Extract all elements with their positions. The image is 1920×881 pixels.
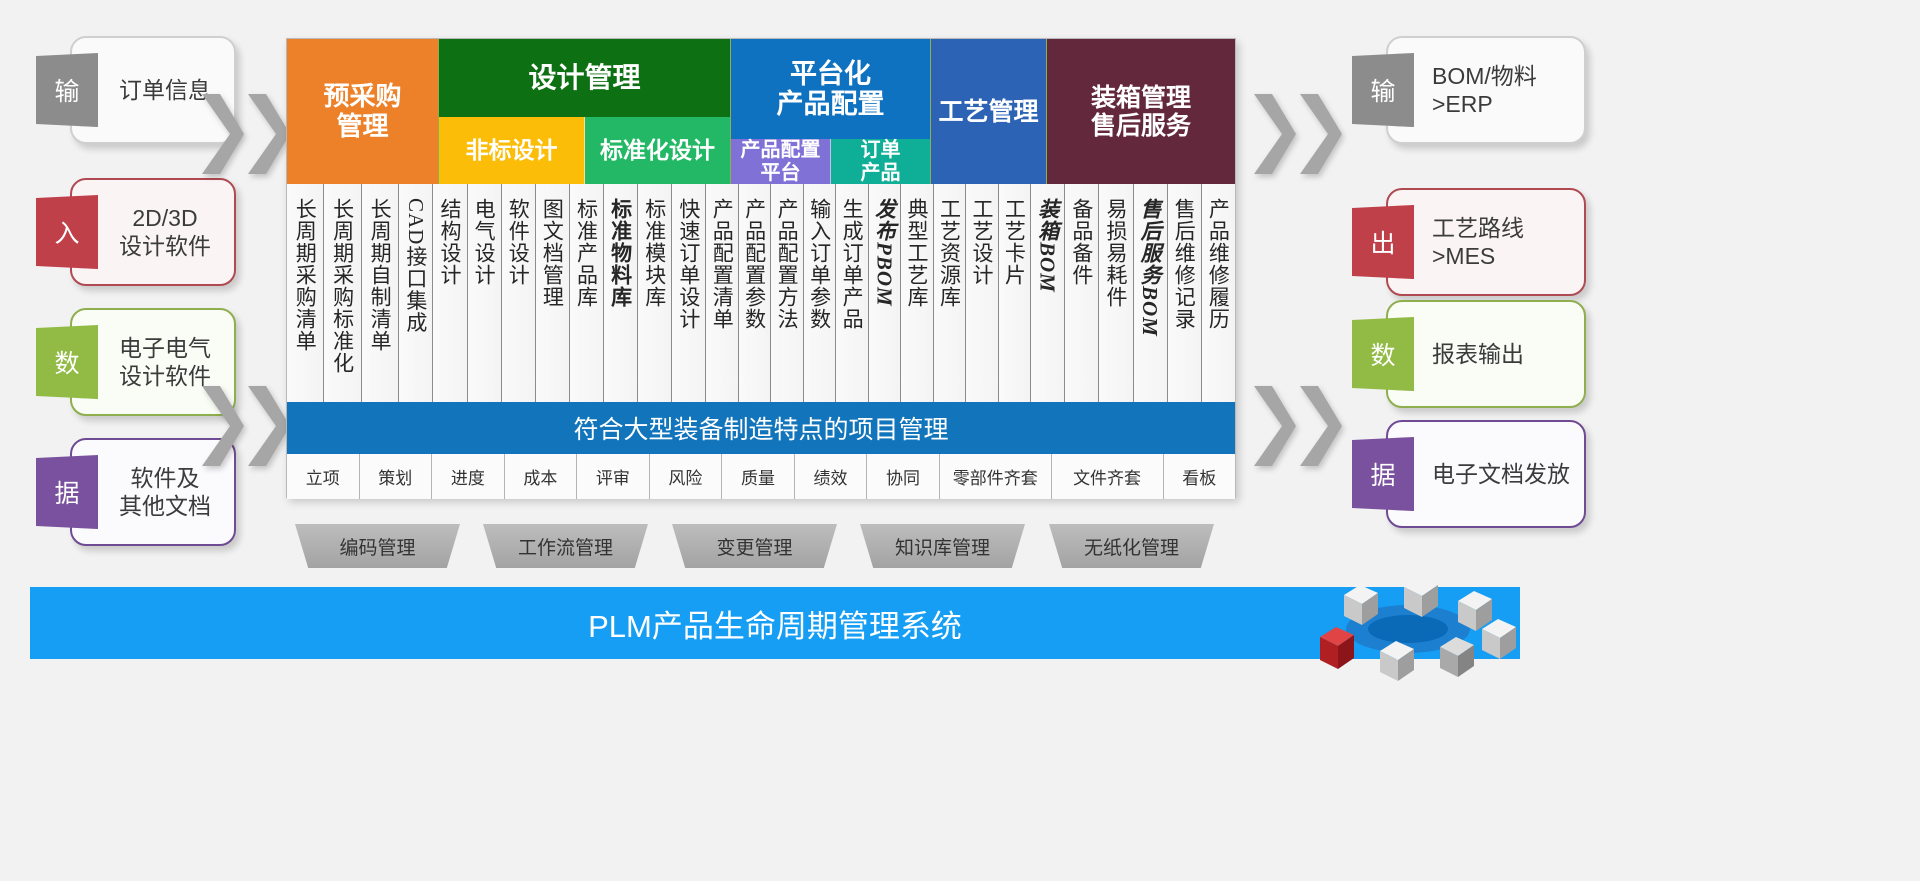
output-tag-label-1: 出 [1370,224,1395,260]
capability-column[interactable]: 典型工艺库 [901,184,933,402]
project-management-items: 立项策划进度成本评审风险质量绩效协同零部件齐套文件齐套看板 [287,454,1235,499]
capability-column-label: 长周期采购标准化 [332,198,354,402]
header-line-platform-0: 平台化 [790,59,871,89]
output-tag-0: 输 [1352,53,1414,127]
capability-column-label: 产品维修履历 [1207,198,1229,402]
input-label-3-line1: 其他文档 [119,492,211,520]
header-line-packing-1: 售后服务 [1091,112,1191,140]
capability-column[interactable]: CAD接口集成 [399,184,433,402]
output-box-3: 电子文档发放 [1386,420,1586,528]
bottom-tag-1[interactable]: 工作流管理 [483,524,648,568]
input-tag-3: 据 [36,455,98,529]
capability-column[interactable]: 发布PBOM [869,184,901,402]
input-tag-0: 输 [36,53,98,127]
output-label-2: 报表输出 [1432,340,1524,368]
output-card-1[interactable]: 出 工艺路线 >MES [1352,188,1586,296]
capability-column-label: 工艺卡片 [1003,198,1025,402]
header-title-design-management: 设计管理 [439,39,730,117]
capability-column[interactable]: 标准产品库 [570,184,604,402]
output-label-0-line1: >ERP [1432,90,1493,118]
pm-item[interactable]: 协同 [867,454,940,499]
header-title-pre-purchase: 预采购 管理 [287,39,438,184]
capability-column[interactable]: 生成订单产品 [836,184,868,402]
capability-column-label: 产品配置清单 [711,198,733,402]
capability-column-label: 产品配置参数 [744,198,766,402]
input-tag-label-0: 输 [54,72,79,108]
header-line-design: 设计管理 [528,62,640,93]
capability-column-label: 典型工艺库 [906,198,928,402]
output-box-1: 工艺路线 >MES [1386,188,1586,296]
header-group-platform-product-config[interactable]: 平台化 产品配置 产品配置 平台 订单 产品 [731,39,931,184]
capability-column[interactable]: 产品配置清单 [706,184,738,402]
capability-column-label: 产品配置方法 [776,198,798,402]
output-tag-1: 出 [1352,205,1414,279]
output-tag-label-3: 据 [1370,456,1395,492]
capability-column[interactable]: 装箱BOM [1031,184,1065,402]
plm-architecture-panel: 预采购 管理 设计管理 非标设计 标准化设计 平台化 产品配置 [286,38,1236,498]
pm-item-label: 评审 [596,464,630,489]
capability-column[interactable]: 售后服务BOM [1134,184,1168,402]
output-box-0: BOM/物料 >ERP [1386,36,1586,144]
header-group-packing-after-sales[interactable]: 装箱管理 售后服务 [1047,39,1235,184]
project-management-bar: 符合大型装备制造特点的项目管理 [287,402,1235,454]
header-sub-label-0: 非标设计 [466,138,558,164]
capability-column-label: 发布PBOM [873,198,895,402]
header-group-design-management[interactable]: 设计管理 非标设计 标准化设计 [439,39,731,184]
output-tag-3: 据 [1352,437,1414,511]
input-label-1-line1: 设计软件 [119,232,211,260]
input-label-0: 订单信息 [119,76,211,104]
pm-item-label: 风险 [668,464,702,489]
pm-item-label: 质量 [741,464,775,489]
header-sub-label-1: 标准化设计 [600,138,715,164]
pm-item-label: 立项 [306,464,340,489]
output-tag-label-0: 输 [1370,72,1395,108]
output-tag-2: 数 [1352,317,1414,391]
chevron-right-top [1252,88,1342,180]
capability-column-label: 标准产品库 [575,198,597,402]
capability-column[interactable]: 软件设计 [502,184,536,402]
pm-item[interactable]: 成本 [505,454,578,499]
capability-column[interactable]: 易损易耗件 [1099,184,1133,402]
output-card-2[interactable]: 数 报表输出 [1352,300,1586,408]
capability-column[interactable]: 图文档管理 [536,184,570,402]
capability-column[interactable]: 标准物料库 [604,184,638,402]
header-sub-label-3b: 产品 [861,162,901,184]
bottom-tag-label-3: 知识库管理 [895,533,990,560]
header-line-process: 工艺管理 [938,98,1038,126]
input-label-2-line0: 电子电气 [119,334,211,362]
bottom-tag-0[interactable]: 编码管理 [295,524,460,568]
project-management-title: 符合大型装备制造特点的项目管理 [573,410,948,446]
capability-column-label: 图文档管理 [541,198,563,402]
capability-column-label: 标准物料库 [610,198,632,402]
capability-column-label: 工艺设计 [971,198,993,402]
chevron-right-bottom [1252,380,1342,472]
module-header-row: 预采购 管理 设计管理 非标设计 标准化设计 平台化 产品配置 [287,39,1235,184]
capability-column[interactable]: 产品维修履历 [1202,184,1235,402]
header-title-platform-product-config: 平台化 产品配置 [731,39,930,139]
bottom-tag-4[interactable]: 无纸化管理 [1049,524,1214,568]
capability-column-label: 结构设计 [439,198,461,402]
pm-item[interactable]: 绩效 [795,454,868,499]
capability-column-label: 输入订单参数 [809,198,831,402]
pm-item-label: 零部件齐套 [953,464,1038,489]
input-tag-label-2: 数 [54,344,79,380]
input-tag-label-3: 据 [54,474,79,510]
capability-column-label: 快速订单设计 [678,198,700,402]
capability-column-label: 易损易耗件 [1105,198,1127,402]
pm-item-label: 看板 [1182,464,1216,489]
pm-item[interactable]: 策划 [360,454,433,499]
capability-column[interactable]: 快速订单设计 [672,184,706,402]
chevron-left-top [200,88,290,180]
header-title-packing-after-sales: 装箱管理 售后服务 [1047,39,1235,184]
input-label-3-line0: 软件及 [131,464,200,492]
input-label-2-line1: 设计软件 [119,362,211,390]
cubes-3d-icon [1300,575,1520,685]
header-sub-product-config-platform[interactable]: 产品配置 平台 [731,139,831,184]
bottom-tag-label-1: 工作流管理 [518,533,613,560]
pm-item[interactable]: 风险 [650,454,723,499]
pm-item[interactable]: 看板 [1164,454,1236,499]
capability-column[interactable]: 长周期采购标准化 [324,184,361,402]
header-line-packing-0: 装箱管理 [1091,84,1191,112]
pm-item[interactable]: 文件齐套 [1052,454,1164,499]
output-tag-label-2: 数 [1370,336,1395,372]
capability-column[interactable]: 工艺设计 [966,184,998,402]
pm-item[interactable]: 零部件齐套 [940,454,1052,499]
input-tag-1: 入 [36,195,98,269]
pm-item-label: 协同 [886,464,920,489]
capability-column[interactable]: 售后维修记录 [1168,184,1202,402]
input-card-1[interactable]: 入 2D/3D 设计软件 [36,178,236,286]
header-sub-standardized-design[interactable]: 标准化设计 [585,117,730,184]
capability-column[interactable]: 长周期采购清单 [287,184,324,402]
chevron-left-bottom [200,380,290,472]
output-box-2: 报表输出 [1386,300,1586,408]
capability-column[interactable]: 工艺卡片 [999,184,1031,402]
capability-column[interactable]: 电气设计 [468,184,502,402]
pm-item[interactable]: 评审 [577,454,650,499]
pm-item-label: 文件齐套 [1073,464,1141,489]
plm-banner: PLM产品生命周期管理系统 [30,587,1520,659]
header-line-0: 预采购 [323,82,401,111]
header-sub-order-product[interactable]: 订单 产品 [831,139,930,184]
header-line-1: 管理 [336,112,388,141]
capability-column-label: 售后维修记录 [1173,198,1195,402]
plm-banner-title: PLM产品生命周期管理系统 [588,601,962,646]
pm-item-label: 成本 [523,464,557,489]
capability-column[interactable]: 输入订单参数 [804,184,836,402]
header-line-platform-1: 产品配置 [777,89,885,119]
capability-column[interactable]: 结构设计 [433,184,467,402]
capability-column-label: 生成订单产品 [841,198,863,402]
output-label-1-line0: 工艺路线 [1432,214,1524,242]
capability-columns: 长周期采购清单长周期采购标准化长周期自制清单CAD接口集成结构设计电气设计软件设… [287,184,1235,402]
output-card-3[interactable]: 据 电子文档发放 [1352,420,1586,528]
capability-column-label: 长周期采购清单 [294,198,316,402]
header-group-process-management[interactable]: 工艺管理 [931,39,1047,184]
bottom-tag-label-0: 编码管理 [339,533,415,560]
capability-column-label: 工艺资源库 [938,198,960,402]
capability-column-label: 装箱BOM [1037,198,1059,402]
capability-column[interactable]: 产品配置方法 [771,184,803,402]
capability-column-label: 标准模块库 [644,198,666,402]
capability-column-label: 电气设计 [473,198,495,402]
bottom-tag-2[interactable]: 变更管理 [672,524,837,568]
input-label-1-line0: 2D/3D [132,204,197,232]
capability-column-label: 长周期自制清单 [369,198,391,402]
output-card-0[interactable]: 输 BOM/物料 >ERP [1352,36,1586,144]
pm-item-label: 进度 [451,464,485,489]
input-tag-2: 数 [36,325,98,399]
header-sub-label-2b: 平台 [761,162,801,184]
capability-column-label: CAD接口集成 [405,198,427,402]
pm-item[interactable]: 质量 [722,454,795,499]
header-sub-non-standard-design[interactable]: 非标设计 [439,117,585,184]
bottom-tag-label-4: 无纸化管理 [1084,533,1179,560]
capability-column-label: 备品备件 [1071,198,1093,402]
capability-column[interactable]: 标准模块库 [638,184,672,402]
header-group-pre-purchase[interactable]: 预采购 管理 [287,39,439,184]
header-title-process-management: 工艺管理 [931,39,1046,184]
bottom-tag-label-2: 变更管理 [716,533,792,560]
capability-column-label: 售后服务BOM [1139,198,1161,402]
pm-item[interactable]: 进度 [432,454,505,499]
capability-column[interactable]: 备品备件 [1065,184,1099,402]
bottom-tag-3[interactable]: 知识库管理 [860,524,1025,568]
capability-column[interactable]: 工艺资源库 [934,184,966,402]
capability-column[interactable]: 长周期自制清单 [362,184,399,402]
capability-column-label: 软件设计 [507,198,529,402]
output-label-3: 电子文档发放 [1432,460,1570,488]
input-tag-label-1: 入 [54,214,79,250]
pm-item-label: 策划 [378,464,412,489]
capability-column[interactable]: 产品配置参数 [739,184,771,402]
pm-item-label: 绩效 [813,464,847,489]
output-label-1-line1: >MES [1432,242,1495,270]
pm-item[interactable]: 立项 [287,454,360,499]
header-sub-label-3a: 订单 [861,139,901,161]
output-label-0-line0: BOM/物料 [1432,62,1537,90]
header-sub-label-2a: 产品配置 [741,139,821,161]
